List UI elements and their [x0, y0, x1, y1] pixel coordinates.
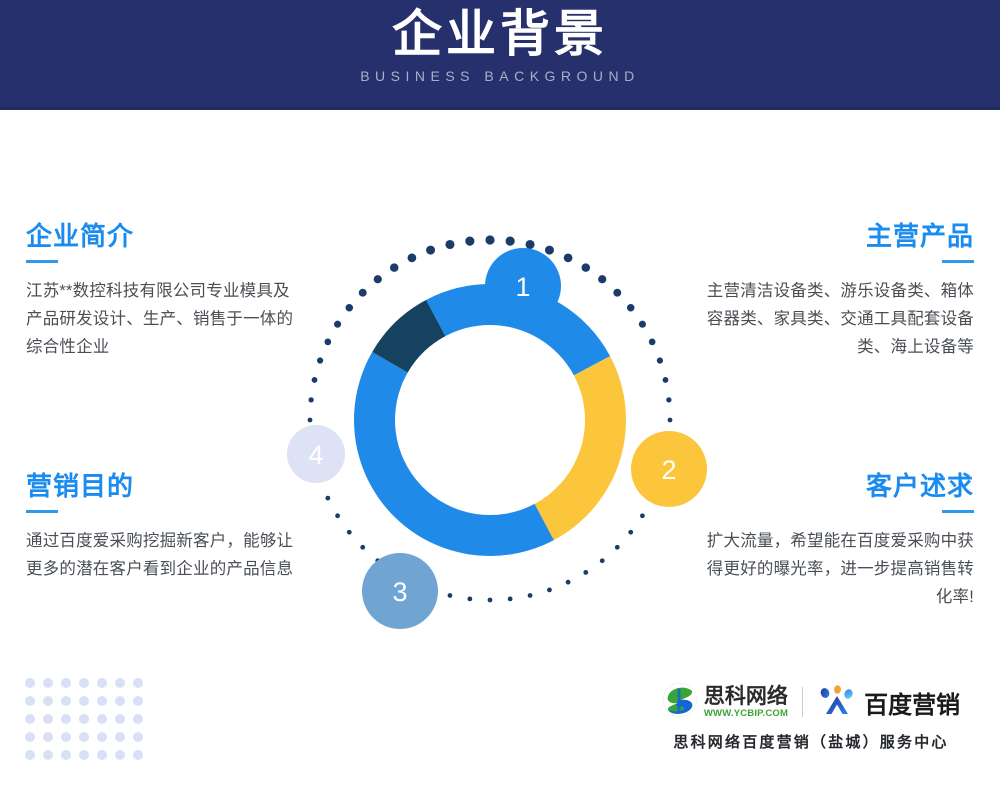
- grid-dot: [115, 732, 125, 742]
- orbit-dot: [359, 289, 367, 297]
- block-rule-product: [942, 260, 974, 263]
- grid-dot: [25, 678, 35, 688]
- orbit-dot: [547, 588, 552, 593]
- block-heading-demand: 客户述求: [704, 472, 974, 501]
- block-heading-goal: 营销目的: [26, 472, 296, 501]
- node-circle-label: 4: [308, 440, 323, 470]
- orbit-dot: [308, 397, 313, 402]
- grid-dot: [79, 750, 89, 760]
- sike-logo: 思科网络 WWW.YCBIP.COM: [662, 682, 788, 723]
- block-body-goal: 通过百度爱采购挖掘新客户，能够让更多的潜在客户看到企业的产品信息: [26, 527, 296, 584]
- grid-dot: [61, 678, 71, 688]
- slide-body: 企业简介 江苏**数控科技有限公司专业模具及产品研发设计、生产、销售于一体的综合…: [0, 110, 1000, 807]
- block-body-demand: 扩大流量，希望能在百度爱采购中获得更好的曝光率，进一步提高销售转化率!: [704, 527, 974, 612]
- grid-dot: [25, 750, 35, 760]
- text-block-demand: 客户述求 扩大流量，希望能在百度爱采购中获得更好的曝光率，进一步提高销售转化率!: [704, 472, 974, 612]
- slide-canvas: 企业背景 BUSINESS BACKGROUND 企业简介 江苏**数控科技有限…: [0, 0, 1000, 807]
- orbit-dot: [312, 377, 318, 383]
- orbit-dot: [639, 321, 646, 328]
- grid-dot: [43, 696, 53, 706]
- orbit-dot: [528, 593, 533, 598]
- orbit-dot: [640, 513, 645, 518]
- orbit-dot: [506, 237, 515, 246]
- grid-dot: [97, 678, 107, 688]
- grid-dot: [61, 714, 71, 724]
- grid-dot: [97, 696, 107, 706]
- orbit-dot: [627, 304, 635, 312]
- block-body-product: 主营清洁设备类、游乐设备类、箱体容器类、家具类、交通工具配套设备类、海上设备等: [704, 277, 974, 362]
- orbit-dot: [445, 240, 454, 249]
- orbit-dot: [526, 240, 535, 249]
- orbit-dot: [583, 570, 588, 575]
- text-block-intro: 企业简介 江苏**数控科技有限公司专业模具及产品研发设计、生产、销售于一体的综合…: [26, 222, 296, 362]
- grid-dot: [61, 696, 71, 706]
- orbit-dot: [467, 596, 472, 601]
- grid-dot: [97, 750, 107, 760]
- block-rule-goal: [26, 510, 58, 513]
- node-circle-4[interactable]: 4: [287, 425, 345, 483]
- node-circle-label: 3: [392, 577, 407, 607]
- orbit-dot: [485, 235, 494, 244]
- orbit-dot: [360, 545, 365, 550]
- donut-chart: [354, 284, 626, 556]
- orbit-dot: [615, 545, 620, 550]
- logo-divider: [802, 687, 803, 717]
- orbit-dot: [325, 496, 330, 501]
- grid-dot: [133, 732, 143, 742]
- orbit-dot: [668, 418, 673, 423]
- grid-dot: [115, 696, 125, 706]
- orbit-dot: [598, 275, 606, 283]
- orbit-dot: [335, 513, 340, 518]
- footer-caption: 思科网络百度营销（盐城）服务中心: [673, 731, 948, 752]
- grid-dot: [25, 732, 35, 742]
- donut-segment: [354, 352, 554, 556]
- orbit-dot: [426, 246, 435, 255]
- orbit-dot: [508, 596, 513, 601]
- donut-diagram: 1234: [265, 175, 715, 675]
- grid-dot: [133, 678, 143, 688]
- sike-swoosh-icon: [662, 682, 698, 723]
- orbit-dot: [666, 397, 671, 402]
- orbit-dot: [564, 253, 573, 262]
- grid-dot: [133, 714, 143, 724]
- orbit-dot: [582, 263, 591, 272]
- baidu-brand-name: 百度营销: [864, 685, 960, 720]
- page-subtitle: BUSINESS BACKGROUND: [360, 68, 640, 84]
- orbit-dot: [374, 275, 382, 283]
- sike-brand-name: 思科网络: [704, 686, 788, 707]
- orbit-dot: [649, 339, 656, 346]
- orbit-dot: [628, 530, 633, 535]
- orbit-dot: [390, 263, 399, 272]
- grid-dot: [61, 732, 71, 742]
- decorative-dot-grid: [22, 675, 152, 775]
- sike-url: WWW.YCBIP.COM: [704, 709, 788, 719]
- node-circle-2[interactable]: 2: [631, 431, 707, 507]
- grid-dot: [79, 732, 89, 742]
- donut-segment: [535, 356, 626, 540]
- sike-text-wrap: 思科网络 WWW.YCBIP.COM: [704, 686, 788, 719]
- orbit-dot: [566, 580, 571, 585]
- grid-dot: [97, 714, 107, 724]
- block-rule-intro: [26, 260, 58, 263]
- page-title: 企业背景: [392, 6, 608, 64]
- node-circle-3[interactable]: 3: [362, 553, 438, 629]
- grid-dot: [79, 678, 89, 688]
- orbit-dot: [545, 246, 554, 255]
- block-heading-product: 主营产品: [704, 222, 974, 251]
- grid-dot: [25, 696, 35, 706]
- orbit-dot: [346, 304, 354, 312]
- grid-dot: [133, 750, 143, 760]
- grid-dot: [133, 696, 143, 706]
- node-circle-1[interactable]: 1: [485, 248, 561, 324]
- node-circle-label: 2: [661, 455, 676, 485]
- orbit-dot: [488, 598, 493, 603]
- grid-dot: [43, 732, 53, 742]
- node-circle-label: 1: [515, 272, 530, 302]
- baidu-logo: 百度营销: [817, 684, 960, 721]
- baidu-paw-icon: [817, 684, 857, 721]
- grid-dot: [43, 714, 53, 724]
- grid-dot: [79, 696, 89, 706]
- orbit-dot: [308, 418, 313, 423]
- grid-dot: [115, 714, 125, 724]
- orbit-dot: [448, 593, 453, 598]
- grid-dot: [25, 714, 35, 724]
- orbit-dot: [347, 530, 352, 535]
- orbit-dot: [465, 237, 474, 246]
- text-block-product: 主营产品 主营清洁设备类、游乐设备类、箱体容器类、家具类、交通工具配套设备类、海…: [704, 222, 974, 362]
- grid-dot: [97, 732, 107, 742]
- text-block-goal: 营销目的 通过百度爱采购挖掘新客户，能够让更多的潜在客户看到企业的产品信息: [26, 472, 296, 583]
- orbit-dot: [317, 357, 323, 363]
- orbit-dot: [600, 558, 605, 563]
- block-rule-demand: [942, 510, 974, 513]
- grid-dot: [115, 678, 125, 688]
- grid-dot: [43, 678, 53, 688]
- orbit-dot: [408, 253, 417, 262]
- footer-branding: 思科网络 WWW.YCBIP.COM: [646, 682, 976, 752]
- logo-row: 思科网络 WWW.YCBIP.COM: [662, 682, 960, 722]
- grid-dot: [79, 714, 89, 724]
- grid-dot: [43, 750, 53, 760]
- orbit-dot: [657, 357, 663, 363]
- block-body-intro: 江苏**数控科技有限公司专业模具及产品研发设计、生产、销售于一体的综合性企业: [26, 277, 296, 362]
- orbit-dot: [324, 339, 331, 346]
- page-header: 企业背景 BUSINESS BACKGROUND: [0, 0, 1000, 110]
- orbit-dot: [613, 289, 621, 297]
- orbit-dot: [663, 377, 669, 383]
- grid-dot: [115, 750, 125, 760]
- grid-dot: [61, 750, 71, 760]
- orbit-dot: [334, 321, 341, 328]
- block-heading-intro: 企业简介: [26, 222, 296, 251]
